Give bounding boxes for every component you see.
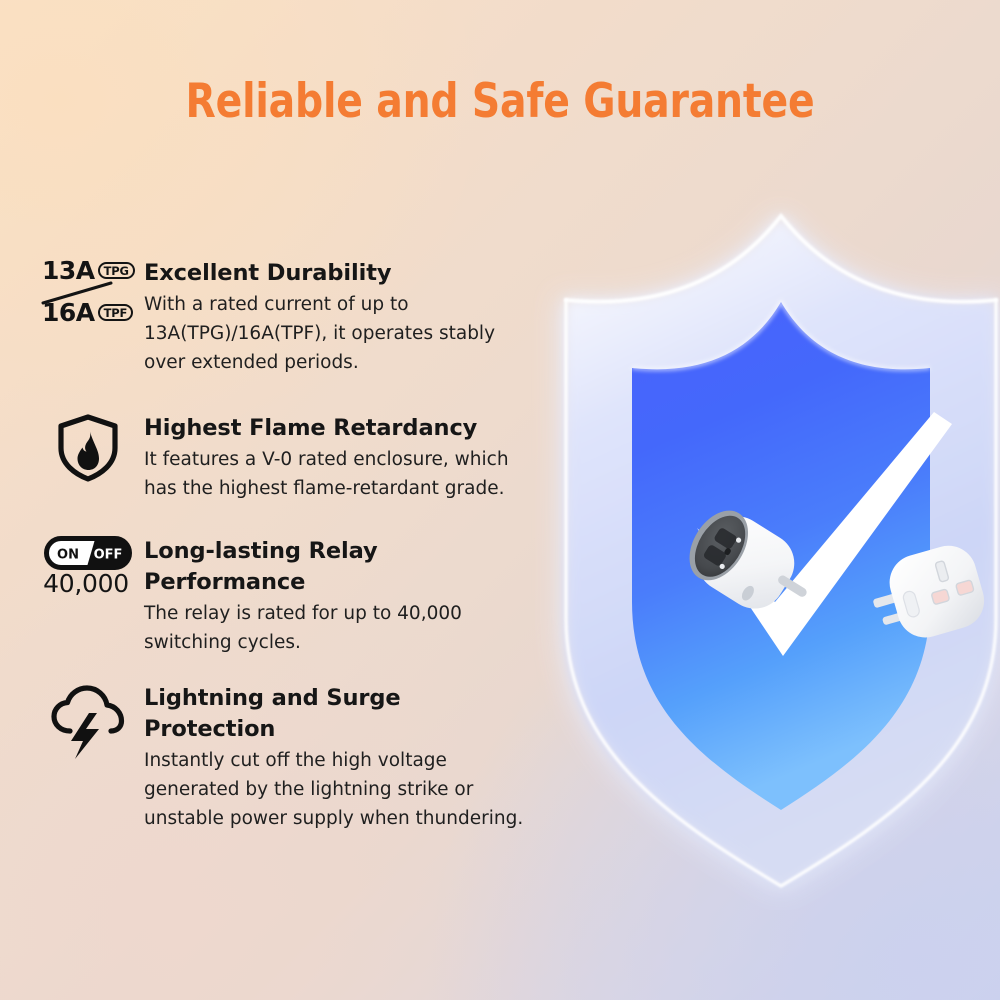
uk-smart-plug bbox=[862, 528, 1000, 678]
feature-title: Long-lasting Relay Performance bbox=[144, 536, 536, 598]
feature-description: The relay is rated for up to 40,000 swit… bbox=[144, 599, 536, 657]
toggle-cycles-value: 40,000 bbox=[36, 570, 136, 598]
feature-title: Excellent Durability bbox=[144, 258, 536, 289]
page-title: Reliable and Safe Guarantee bbox=[35, 74, 965, 129]
rating-top-badge: TPG bbox=[98, 262, 135, 279]
toggle-off-label: OFF bbox=[94, 548, 123, 563]
feature-item-durability: 13A TPG 16A TPF Excellent Durability Wit… bbox=[36, 258, 536, 377]
rating-bottom-badge: TPF bbox=[98, 304, 134, 321]
shield-flame-icon bbox=[36, 413, 140, 483]
feature-item-relay-performance: ON OFF 40,000 Long-lasting Relay Perform… bbox=[36, 536, 536, 657]
feature-description: With a rated current of up to 13A(TPG)/1… bbox=[144, 290, 536, 377]
feature-item-flame-retardancy: Highest Flame Retardancy It features a V… bbox=[36, 413, 536, 503]
on-off-toggle-icon: ON OFF 40,000 bbox=[36, 536, 140, 608]
feature-description: Instantly cut off the high voltage gener… bbox=[144, 746, 536, 833]
feature-title: Highest Flame Retardancy bbox=[144, 413, 536, 444]
infographic-canvas: Reliable and Safe Guarantee 13A TPG 16A … bbox=[0, 0, 1000, 1000]
cloud-lightning-icon bbox=[36, 683, 140, 761]
eu-smart-plug bbox=[660, 498, 810, 658]
feature-description: It features a V-0 rated enclosure, which… bbox=[144, 445, 536, 503]
toggle-on-label: ON bbox=[57, 548, 79, 563]
feature-title: Lightning and Surge Protection bbox=[144, 683, 536, 745]
rating-bottom-value: 16A bbox=[42, 300, 95, 325]
feature-item-surge-protection: Lightning and Surge Protection Instantly… bbox=[36, 683, 536, 833]
rating-13a-16a-icon: 13A TPG 16A TPF bbox=[36, 258, 140, 336]
